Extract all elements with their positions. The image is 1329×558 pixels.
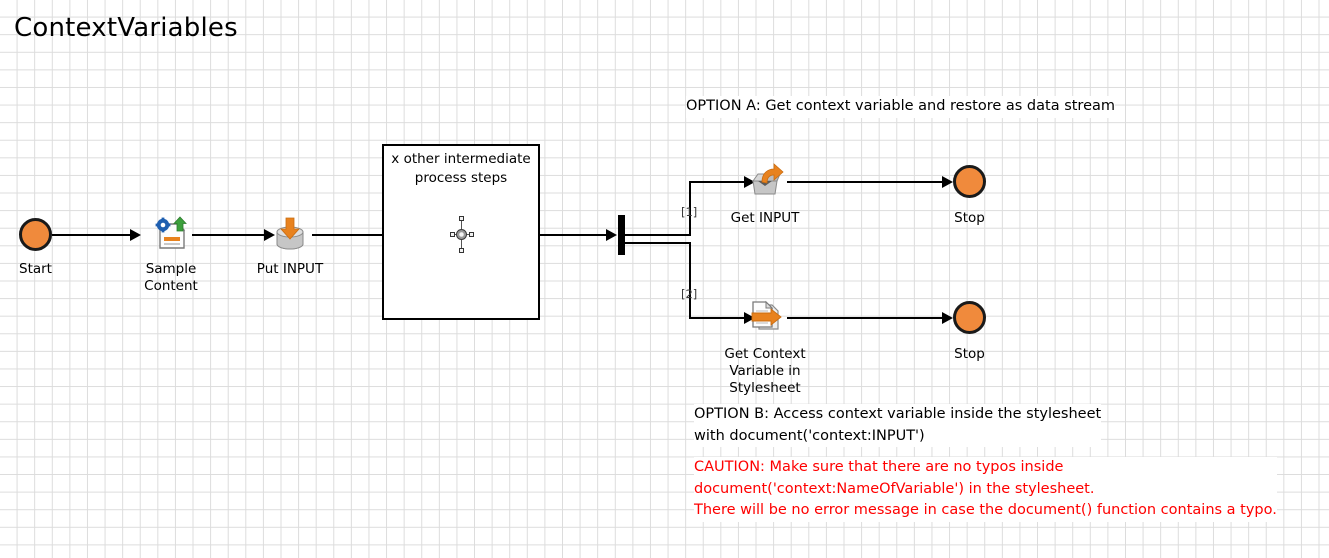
node-put-input-label: Put INPUT [250,261,330,278]
node-sample-content-label: Sample Content [131,261,211,295]
handle-left[interactable] [450,232,455,237]
open-box-get-arrow-icon[interactable] [745,161,785,201]
subprocess-label: x other intermediate process steps [386,150,536,188]
branch2-segment-h2 [689,317,745,319]
selection-handle-marker[interactable] [450,216,474,254]
document-gear-upload-icon[interactable] [151,214,191,254]
annotation-caution: CAUTION: Make sure that there are no typ… [694,457,1277,522]
handle-top[interactable] [459,216,464,221]
connector-start-to-sample [52,234,130,236]
node-stop-b-circle[interactable] [953,301,986,334]
arrowhead-split [606,229,617,241]
diagram-canvas: ContextVariables x other intermediate pr… [0,0,1329,558]
split-gateway-bar[interactable] [618,215,625,255]
handle-bottom[interactable] [459,248,464,253]
node-stop-b-label: Stop [934,346,1005,363]
node-stop-a-label: Stop [934,210,1005,227]
node-get-context-variable-label: Get Context Variable in Stylesheet [713,346,817,397]
node-start-circle[interactable] [19,218,52,251]
branch1-segment-h2 [689,181,745,183]
arrowhead-stop-b [942,312,953,324]
arrowhead-stop-a [942,176,953,188]
branch-label-1: [1] [681,205,697,219]
handle-center[interactable] [456,229,467,240]
branch1-segment-h1 [625,234,691,236]
page-title: ContextVariables [14,13,238,43]
connector-getcontext-to-stop [787,317,944,319]
document-pages-arrow-icon[interactable] [745,296,785,336]
arrowhead-sample [130,229,141,241]
handle-right[interactable] [469,232,474,237]
annotation-option-a: OPTION A: Get context variable and resto… [686,96,1115,118]
box-put-down-arrow-icon[interactable] [270,214,310,254]
branch-label-2: [2] [681,287,697,301]
node-stop-a-circle[interactable] [953,165,986,198]
branch2-segment-v [689,242,691,318]
annotation-option-b: OPTION B: Access context variable inside… [694,404,1101,447]
node-get-input-label: Get INPUT [725,210,805,227]
connector-sample-to-put [192,234,264,236]
branch2-segment-h1 [625,242,691,244]
connector-getinput-to-stop [787,181,944,183]
node-start-label: Start [0,261,71,278]
